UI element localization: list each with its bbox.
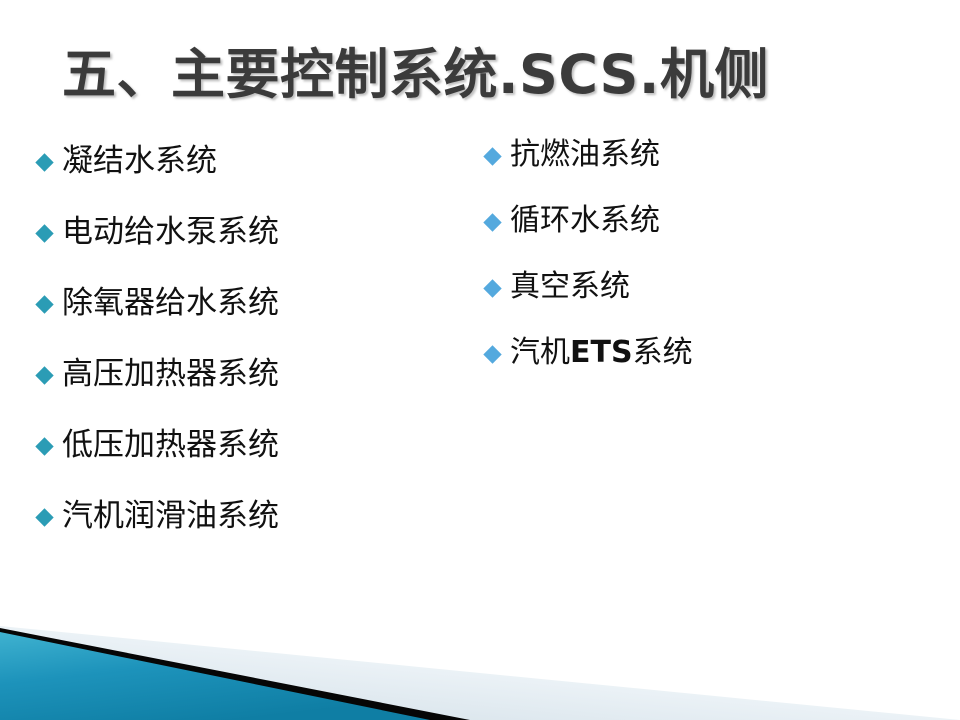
list-item-label: 除氧器给水系统 [62, 288, 279, 319]
diamond-bullet-icon [483, 279, 501, 297]
deco-black-wedge [0, 628, 470, 720]
deco-teal-wedge [0, 632, 430, 720]
diamond-bullet-icon [35, 224, 53, 242]
slide: 五、主要控制系统.SCS.机侧 凝结水系统 电动给水泵系统 除氧器给水系统 高压… [0, 0, 960, 720]
list-item-label-prefix: 汽机 [510, 335, 570, 370]
diamond-bullet-icon [35, 437, 53, 455]
diamond-bullet-icon [35, 295, 53, 313]
list-item-label: 凝结水系统 [62, 146, 217, 177]
list-item-label-ets: 汽机ETS系统 [510, 338, 693, 368]
list-item[interactable]: 汽机润滑油系统 [38, 481, 458, 552]
diamond-bullet-icon [35, 153, 53, 171]
diamond-bullet-icon [35, 366, 53, 384]
diamond-bullet-icon [483, 345, 501, 363]
page-title: 五、主要控制系统.SCS.机侧 [62, 46, 902, 104]
bullet-column-left: 凝结水系统 电动给水泵系统 除氧器给水系统 高压加热器系统 低压加热器系统 汽机… [38, 126, 458, 552]
list-item-label: 汽机润滑油系统 [62, 501, 279, 532]
list-item-label: 抗燃油系统 [510, 140, 660, 170]
list-item-label-suffix: 系统 [633, 335, 693, 370]
list-item-label: 循环水系统 [510, 206, 660, 236]
list-item[interactable]: 循环水系统 [486, 188, 926, 254]
list-item[interactable]: 真空系统 [486, 254, 926, 320]
list-item[interactable]: 汽机ETS系统 [486, 320, 926, 386]
list-item-label: 低压加热器系统 [62, 430, 279, 461]
list-item-label: 高压加热器系统 [62, 359, 279, 390]
list-item[interactable]: 低压加热器系统 [38, 410, 458, 481]
list-item-label: 真空系统 [510, 272, 630, 302]
list-item[interactable]: 电动给水泵系统 [38, 197, 458, 268]
list-item-label: 电动给水泵系统 [62, 217, 279, 248]
bullet-column-right: 抗燃油系统 循环水系统 真空系统 汽机ETS系统 [486, 122, 926, 386]
list-item-label-emphasis: ETS [570, 335, 633, 370]
diamond-bullet-icon [35, 508, 53, 526]
deco-pale-wedge [0, 626, 960, 720]
list-item[interactable]: 抗燃油系统 [486, 122, 926, 188]
list-item[interactable]: 除氧器给水系统 [38, 268, 458, 339]
diamond-bullet-icon [483, 213, 501, 231]
list-item[interactable]: 凝结水系统 [38, 126, 458, 197]
diamond-bullet-icon [483, 147, 501, 165]
bottom-angled-band [0, 550, 960, 720]
list-item[interactable]: 高压加热器系统 [38, 339, 458, 410]
